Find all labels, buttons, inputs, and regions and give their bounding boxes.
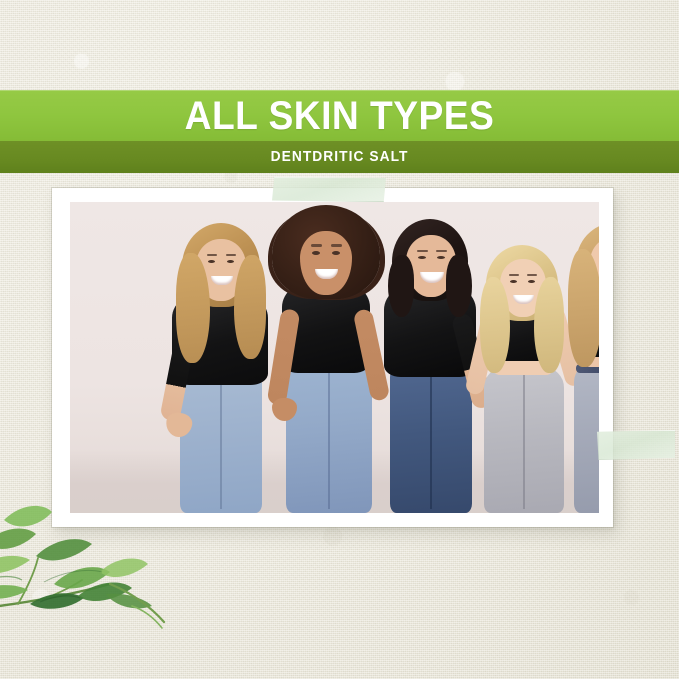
- eyebrow: [226, 254, 236, 256]
- eye: [510, 280, 517, 283]
- headline-title: ALL SKIN TYPES: [185, 96, 495, 136]
- jeans-seam: [430, 361, 432, 509]
- eyebrow: [207, 254, 217, 256]
- photo-image: Five smiling women in black tops and blu…: [70, 202, 599, 513]
- hair-strands: [534, 277, 564, 373]
- hair-side: [446, 255, 472, 317]
- eye: [437, 256, 445, 259]
- eyebrow: [311, 244, 322, 247]
- headline-banner: ALL SKIN TYPES DENTDRITIC SALT: [0, 90, 679, 173]
- watercolor-olive-branch: [0, 510, 192, 650]
- jeans: [574, 361, 599, 513]
- group-of-women: [70, 202, 599, 513]
- jeans-seam: [328, 359, 330, 509]
- eye: [332, 251, 340, 255]
- hair-strands: [480, 277, 510, 373]
- eyebrow: [417, 250, 428, 252]
- photo-card: Five smiling women in black tops and blu…: [52, 188, 613, 527]
- jeans-seam: [220, 369, 222, 509]
- hair-strands: [234, 255, 266, 359]
- poster-canvas: ALL SKIN TYPES DENTDRITIC SALT: [0, 0, 679, 679]
- eye: [227, 260, 234, 263]
- eyebrow: [527, 274, 537, 276]
- jeans-seam: [523, 373, 525, 509]
- eye: [528, 280, 535, 283]
- eye: [418, 256, 426, 259]
- hair-side: [388, 255, 414, 317]
- eyebrow: [509, 274, 519, 276]
- hair-strands: [176, 253, 210, 363]
- washi-tape-right: [597, 430, 675, 460]
- headline-band-secondary: DENTDRITIC SALT: [0, 141, 679, 173]
- eye: [208, 260, 215, 263]
- washi-tape-top: [272, 177, 386, 202]
- headline-subtitle: DENTDRITIC SALT: [271, 150, 409, 165]
- hair-strands: [568, 249, 599, 367]
- eyebrow: [331, 244, 342, 247]
- eye: [312, 251, 320, 255]
- eyebrow: [436, 250, 447, 252]
- headline-band-primary: ALL SKIN TYPES: [0, 90, 679, 141]
